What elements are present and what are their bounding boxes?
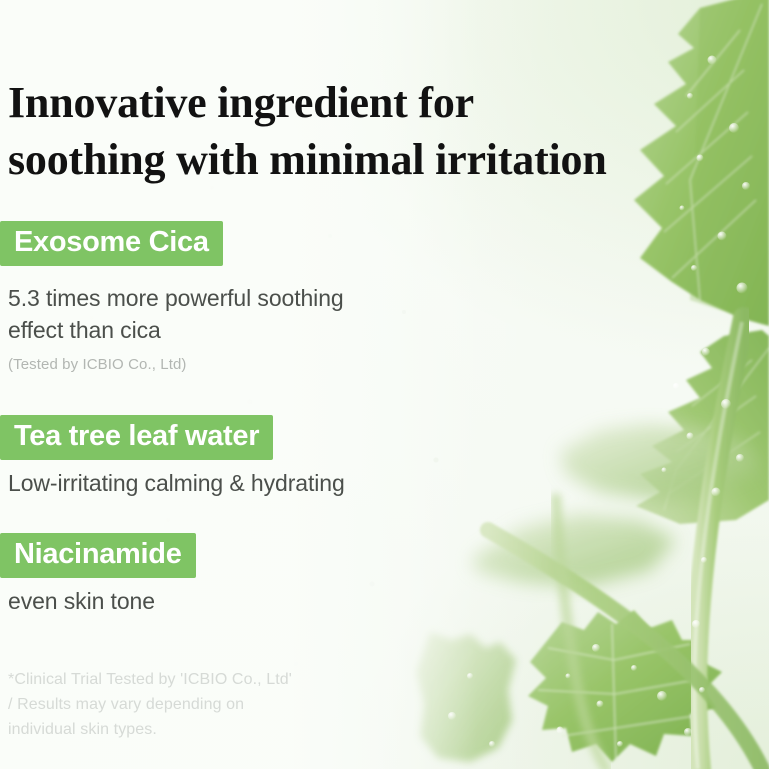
leaf-blurred-back — [470, 424, 760, 586]
infographic-canvas: Innovative ingredient for soothing with … — [0, 0, 769, 769]
ingredient-badge-tea-tree-leaf-water: Tea tree leaf water — [0, 415, 273, 460]
ingredient-note-exosome-cica: (Tested by ICBIO Co., Ltd) — [8, 355, 187, 375]
leaf-lower-centre — [528, 610, 722, 762]
leaf-lower-left — [416, 632, 516, 762]
ingredient-description-niacinamide: even skin tone — [8, 586, 478, 618]
ingredient-description-exosome-cica: 5.3 times more powerful soothing effect … — [8, 283, 478, 346]
ingredient-badge-exosome-cica: Exosome Cica — [0, 221, 223, 266]
page-title: Innovative ingredient for soothing with … — [8, 75, 708, 188]
ingredient-badge-niacinamide: Niacinamide — [0, 533, 196, 578]
ingredient-description-tea-tree-leaf-water: Low-irritating calming & hydrating — [8, 468, 478, 500]
plant-stems — [488, 318, 762, 769]
legal-disclaimer: *Clinical Trial Tested by 'ICBIO Co., Lt… — [8, 668, 428, 742]
leaf-mid-right — [636, 330, 769, 524]
